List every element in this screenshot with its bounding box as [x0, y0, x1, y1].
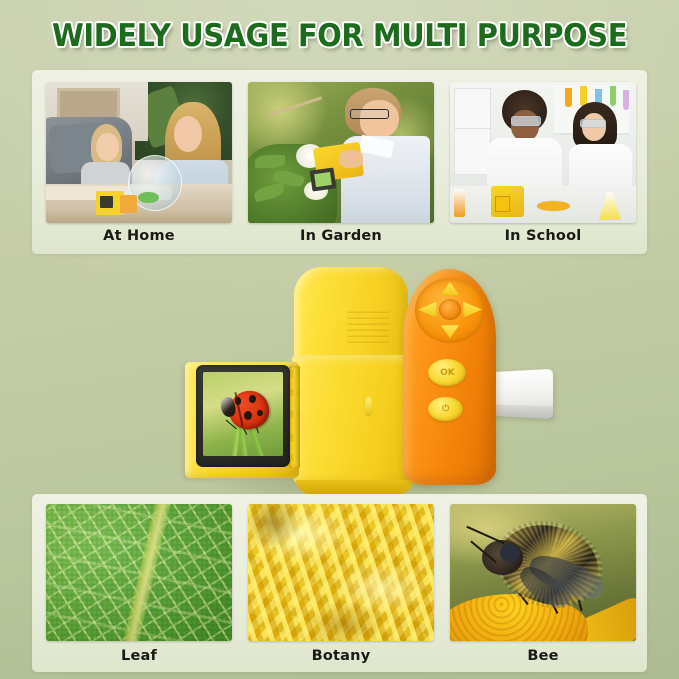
- caption-bee: Bee: [450, 648, 636, 664]
- photo-botany: [248, 504, 434, 641]
- product-microscope: OK ⏻: [168, 262, 513, 494]
- lcd-screen[interactable]: [203, 372, 282, 456]
- sample-specimens-panel: Leaf Botany: [32, 494, 647, 672]
- product-side-button[interactable]: [365, 397, 373, 416]
- caption-in-school: In School: [450, 228, 636, 244]
- power-icon: ⏻: [428, 397, 463, 421]
- power-button[interactable]: ⏻: [428, 397, 463, 421]
- marketing-image-root: WIDELY USAGE FOR MULTI PURPOSE: [0, 0, 679, 679]
- scenario-card-at-home: At Home: [46, 70, 232, 254]
- photo-in-garden: [248, 82, 434, 223]
- photo-in-school: [450, 82, 636, 223]
- caption-leaf: Leaf: [46, 648, 232, 664]
- product-embossed-text: [347, 308, 388, 343]
- caption-at-home: At Home: [46, 228, 232, 244]
- usage-scenarios-panel: At Home: [32, 70, 647, 254]
- ok-button-label: OK: [428, 359, 466, 386]
- caption-in-garden: In Garden: [248, 228, 434, 244]
- specimen-card-leaf: Leaf: [46, 494, 232, 672]
- scenario-card-in-school: In School: [450, 70, 636, 254]
- photo-bee: [450, 504, 636, 641]
- photo-leaf: [46, 504, 232, 641]
- dpad-center-button[interactable]: [439, 299, 461, 320]
- product-base: [296, 480, 413, 494]
- specimen-card-botany: Botany: [248, 494, 434, 672]
- specimen-card-bee: Bee: [450, 494, 636, 672]
- page-title: WIDELY USAGE FOR MULTI PURPOSE: [24, 18, 655, 54]
- caption-botany: Botany: [248, 648, 434, 664]
- product-body: [292, 355, 416, 487]
- ok-button[interactable]: OK: [428, 359, 466, 386]
- scenario-card-in-garden: In Garden: [248, 70, 434, 254]
- photo-at-home: [46, 82, 232, 223]
- screen-hinge: [289, 366, 300, 468]
